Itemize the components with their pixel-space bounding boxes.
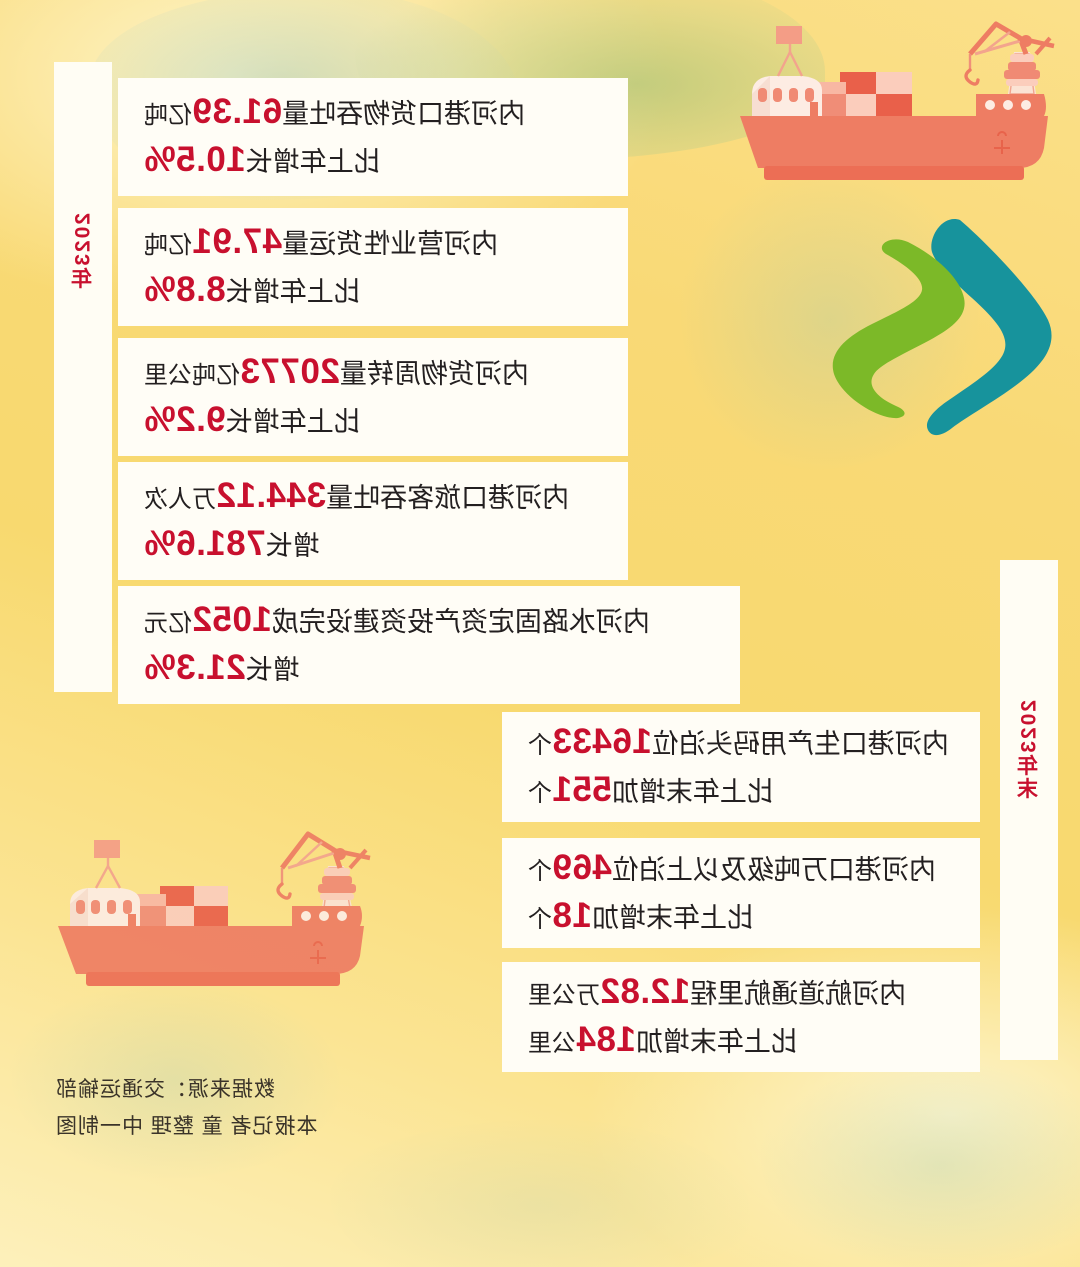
stat-label: 内河货物周转量 (340, 359, 529, 389)
stat-label: 内河港口旅客吞吐量 (326, 483, 569, 513)
stat-card-inland-port-cargo-throughput: 内河港口货物吞吐量61.39亿吨 比上年增长10.5% (118, 78, 628, 196)
stat-change-prefix: 比上年末增加 (612, 777, 774, 807)
stat-primary-line: 内河水路固定资产投资建设完成1052亿元 (144, 597, 714, 643)
stat-change-line: 比上年末增加18个 (528, 893, 954, 939)
watercolor-splotch-icon (760, 1060, 1080, 1267)
stat-change-prefix: 比上年末增加 (592, 903, 754, 933)
year-rail-2023-label: 2023年 (73, 213, 94, 291)
stat-card-inland-port-production-berths: 内河港口生产用码头泊位16433个 比上年末增加551个 (502, 712, 980, 822)
stat-unit: 亿吨 (144, 232, 192, 259)
stat-unit: 万人次 (144, 486, 216, 513)
stat-primary-line: 内河港口货物吞吐量61.39亿吨 (144, 89, 602, 135)
stat-change-unit: 公里 (528, 1030, 576, 1057)
stat-unit: 亿吨 (144, 102, 192, 129)
stat-card-inland-port-10k-ton-berths: 内河港口万吨级及以上泊位469个 比上年末增加18个 (502, 838, 980, 948)
stat-change-prefix: 比上年增长 (246, 147, 381, 177)
stat-label: 内河水路固定资产投资建设完成 (272, 607, 650, 637)
infographic-poster: 2023年 2023年末 内河港口货物吞吐量61.39亿吨 比上年增长10.5%… (0, 0, 1080, 1267)
stat-value: 20773 (240, 352, 340, 391)
stat-label: 内河营业性货运量 (282, 229, 498, 259)
stat-change-value: 781.6 (176, 524, 266, 563)
stat-primary-line: 内河货物周转量20773亿吨公里 (144, 349, 602, 395)
stat-change-unit: % (144, 524, 176, 563)
stat-primary-line: 内河营业性货运量47.91亿吨 (144, 219, 602, 265)
stat-change-prefix: 比上年增长 (226, 407, 361, 437)
stat-label: 内河航道通航里程 (690, 979, 906, 1009)
stat-change-line: 比上年增长10.5% (144, 137, 602, 183)
stat-value: 16433 (552, 722, 652, 761)
stat-change-value: 18 (552, 896, 592, 935)
stat-change-unit: 个 (528, 780, 552, 807)
stat-change-line: 增长781.6% (144, 521, 602, 567)
footer-credits: 数据来源：交通运输部 本报记者 童 整理 中一制图 (55, 1072, 318, 1146)
stat-change-value: 21.3 (176, 648, 246, 687)
stat-change-line: 比上年末增加551个 (528, 767, 954, 813)
stat-change-prefix: 比上年增长 (226, 277, 361, 307)
stat-value: 12.82 (600, 972, 690, 1011)
watercolor-splotch-icon (330, 1120, 750, 1267)
cargo-ship-with-crane-icon (720, 8, 1070, 208)
stat-change-prefix: 增长 (266, 531, 320, 561)
stat-change-value: 184 (576, 1020, 636, 1059)
stat-primary-line: 内河港口生产用码头泊位16433个 (528, 719, 954, 765)
stat-change-unit: % (144, 270, 176, 309)
stat-label: 内河港口生产用码头泊位 (652, 729, 949, 759)
stat-change-value: 8.8 (176, 270, 226, 309)
stat-value: 344.12 (216, 476, 326, 515)
stat-card-inland-freight-turnover: 内河货物周转量20773亿吨公里 比上年增长9.2% (118, 338, 628, 456)
year-rail-2023: 2023年 (54, 62, 112, 692)
stat-value: 61.39 (192, 92, 282, 131)
stat-unit: 亿吨公里 (144, 362, 240, 389)
stat-change-line: 比上年增长8.8% (144, 267, 602, 313)
stat-card-inland-port-passenger-throughput: 内河港口旅客吞吐量344.12万人次 增长781.6% (118, 462, 628, 580)
stat-value: 47.91 (192, 222, 282, 261)
stat-unit: 万公里 (528, 982, 600, 1009)
stat-change-value: 551 (552, 770, 612, 809)
stat-change-unit: % (144, 140, 176, 179)
stat-unit: 个 (528, 858, 552, 885)
stat-card-inland-waterway-fixed-asset-investment: 内河水路固定资产投资建设完成1052亿元 增长21.3% (118, 586, 740, 704)
reporter-credit-text: 本报记者 童 整理 中一制图 (55, 1109, 318, 1146)
stat-change-line: 增长21.3% (144, 645, 714, 691)
cargo-ship-with-crane-icon (40, 812, 380, 1008)
stat-change-unit: % (144, 400, 176, 439)
year-rail-2023-end-label: 2023年末 (1019, 700, 1040, 801)
stat-card-inland-navigable-waterway-mileage: 内河航道通航里程12.82万公里 比上年末增加184公里 (502, 962, 980, 1072)
stat-change-value: 9.2 (176, 400, 226, 439)
stat-change-line: 比上年增长9.2% (144, 397, 602, 443)
stat-primary-line: 内河港口万吨级及以上泊位469个 (528, 845, 954, 891)
waterway-logo-icon (824, 202, 1056, 450)
stat-card-inland-commercial-freight-volume: 内河营业性货运量47.91亿吨 比上年增长8.8% (118, 208, 628, 326)
stat-primary-line: 内河航道通航里程12.82万公里 (528, 969, 954, 1015)
stat-change-prefix: 增长 (246, 655, 300, 685)
stat-change-value: 10.5 (176, 140, 246, 179)
stat-value: 469 (552, 848, 612, 887)
stat-label: 内河港口万吨级及以上泊位 (612, 855, 936, 885)
stat-change-line: 比上年末增加184公里 (528, 1017, 954, 1063)
stat-change-unit: % (144, 648, 176, 687)
stat-value: 1052 (192, 600, 272, 639)
stat-unit: 亿元 (144, 610, 192, 637)
stat-primary-line: 内河港口旅客吞吐量344.12万人次 (144, 473, 602, 519)
stat-label: 内河港口货物吞吐量 (282, 99, 525, 129)
data-source-text: 数据来源：交通运输部 (55, 1072, 318, 1109)
stat-change-unit: 个 (528, 906, 552, 933)
year-rail-2023-end: 2023年末 (1000, 560, 1058, 1060)
stat-unit: 个 (528, 732, 552, 759)
stat-change-prefix: 比上年末增加 (636, 1027, 798, 1057)
